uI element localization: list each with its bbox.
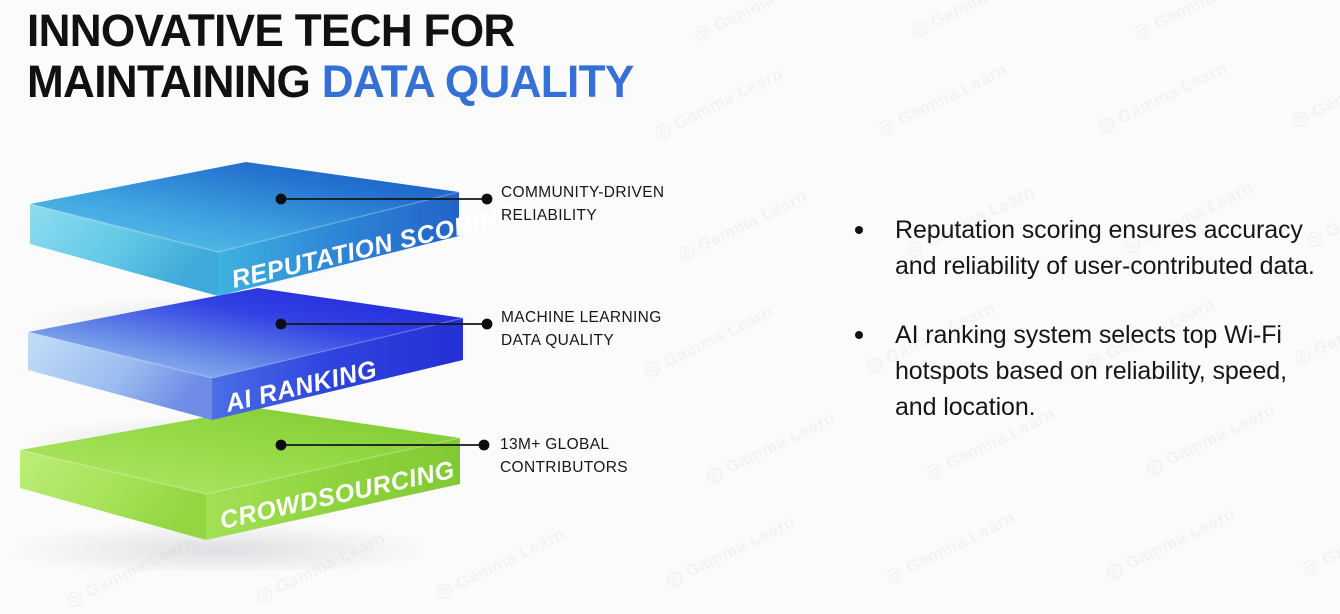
watermark-text: Gamma Learn bbox=[882, 506, 1019, 588]
title-line-1: INNOVATIVE TECH FOR bbox=[27, 5, 634, 56]
watermark-text: Gamma Learn bbox=[1102, 502, 1239, 584]
watermark-text: Gamma Learn bbox=[690, 0, 827, 47]
bullet-dot-icon bbox=[855, 226, 863, 234]
bullet-dot-icon bbox=[855, 331, 863, 339]
watermark-text: Gamma Learn bbox=[907, 0, 1044, 43]
bullet-text: AI ranking system selects top Wi-Fi hots… bbox=[895, 317, 1315, 425]
watermark-text: Gamma Learn bbox=[1298, 498, 1340, 580]
watermark-text: Gamma Learn bbox=[1094, 56, 1231, 138]
callout-crowdsourcing: 13M+ GLOBAL CONTRIBUTORS bbox=[500, 434, 628, 479]
watermark-text: Gamma Learn bbox=[1130, 0, 1267, 45]
title-line-2-plain: MAINTAINING bbox=[27, 56, 322, 107]
title-line-2: MAINTAINING DATA QUALITY bbox=[27, 56, 634, 107]
bullet-list: Reputation scoring ensures accuracy and … bbox=[855, 212, 1315, 458]
title-line-2-accent: DATA QUALITY bbox=[322, 56, 634, 107]
watermark-text: Gamma Learn bbox=[1288, 50, 1340, 132]
watermark-text: Gamma Learn bbox=[874, 58, 1011, 140]
callout-ai-ranking: MACHINE LEARNING DATA QUALITY bbox=[501, 307, 662, 352]
list-item: Reputation scoring ensures accuracy and … bbox=[855, 212, 1315, 284]
callout-reputation-scoring: COMMUNITY-DRIVEN RELIABILITY bbox=[501, 182, 664, 227]
page-title: INNOVATIVE TECH FOR MAINTAINING DATA QUA… bbox=[27, 5, 646, 107]
watermark-text: Gamma Learn bbox=[650, 62, 787, 144]
list-item: AI ranking system selects top Wi-Fi hots… bbox=[855, 317, 1315, 425]
bullet-text: Reputation scoring ensures accuracy and … bbox=[895, 212, 1315, 284]
slab-reputation-scoring: REPUTATION SCORING bbox=[30, 162, 521, 296]
